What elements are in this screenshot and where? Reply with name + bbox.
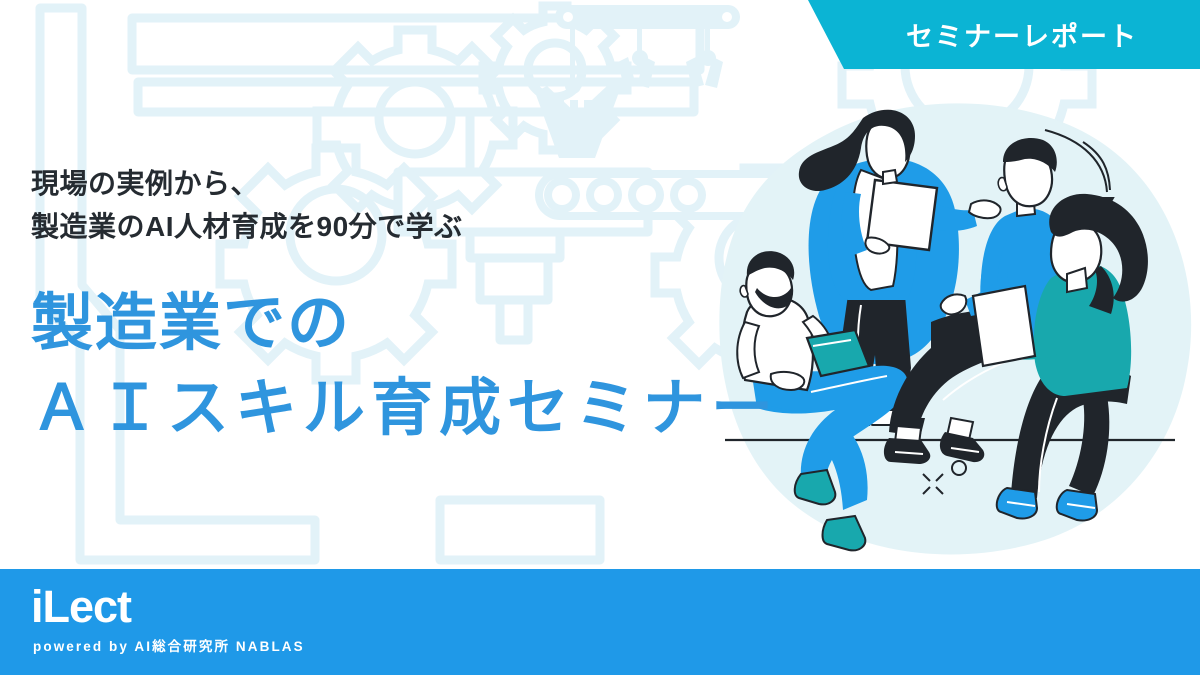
title-line-1: 製造業での <box>31 284 791 363</box>
seminar-report-slide: セミナーレポート 現場の実例から、 製造業のAI人材育成を90分で学ぶ 製造業で… <box>0 0 1200 675</box>
lead-line-1: 現場の実例から、 <box>31 163 791 206</box>
lead-line-2: 製造業のAI人材育成を90分で学ぶ <box>31 206 791 249</box>
footer-bar: iLect powered by AI総合研究所 NABLAS <box>0 569 1200 675</box>
ilect-logo: iLect <box>31 584 131 629</box>
paper-sheet <box>973 286 1035 366</box>
seminar-report-ribbon: セミナーレポート <box>800 0 1200 69</box>
footer-tagline: powered by AI総合研究所 NABLAS <box>33 635 305 655</box>
title-line-2: ＡＩスキル育成セミナー <box>31 369 791 448</box>
title-block: 製造業での ＡＩスキル育成セミナー <box>31 284 791 449</box>
headline-block: 現場の実例から、 製造業のAI人材育成を90分で学ぶ 製造業での ＡＩスキル育成… <box>31 163 791 449</box>
ribbon-label: セミナーレポート <box>800 0 1200 69</box>
